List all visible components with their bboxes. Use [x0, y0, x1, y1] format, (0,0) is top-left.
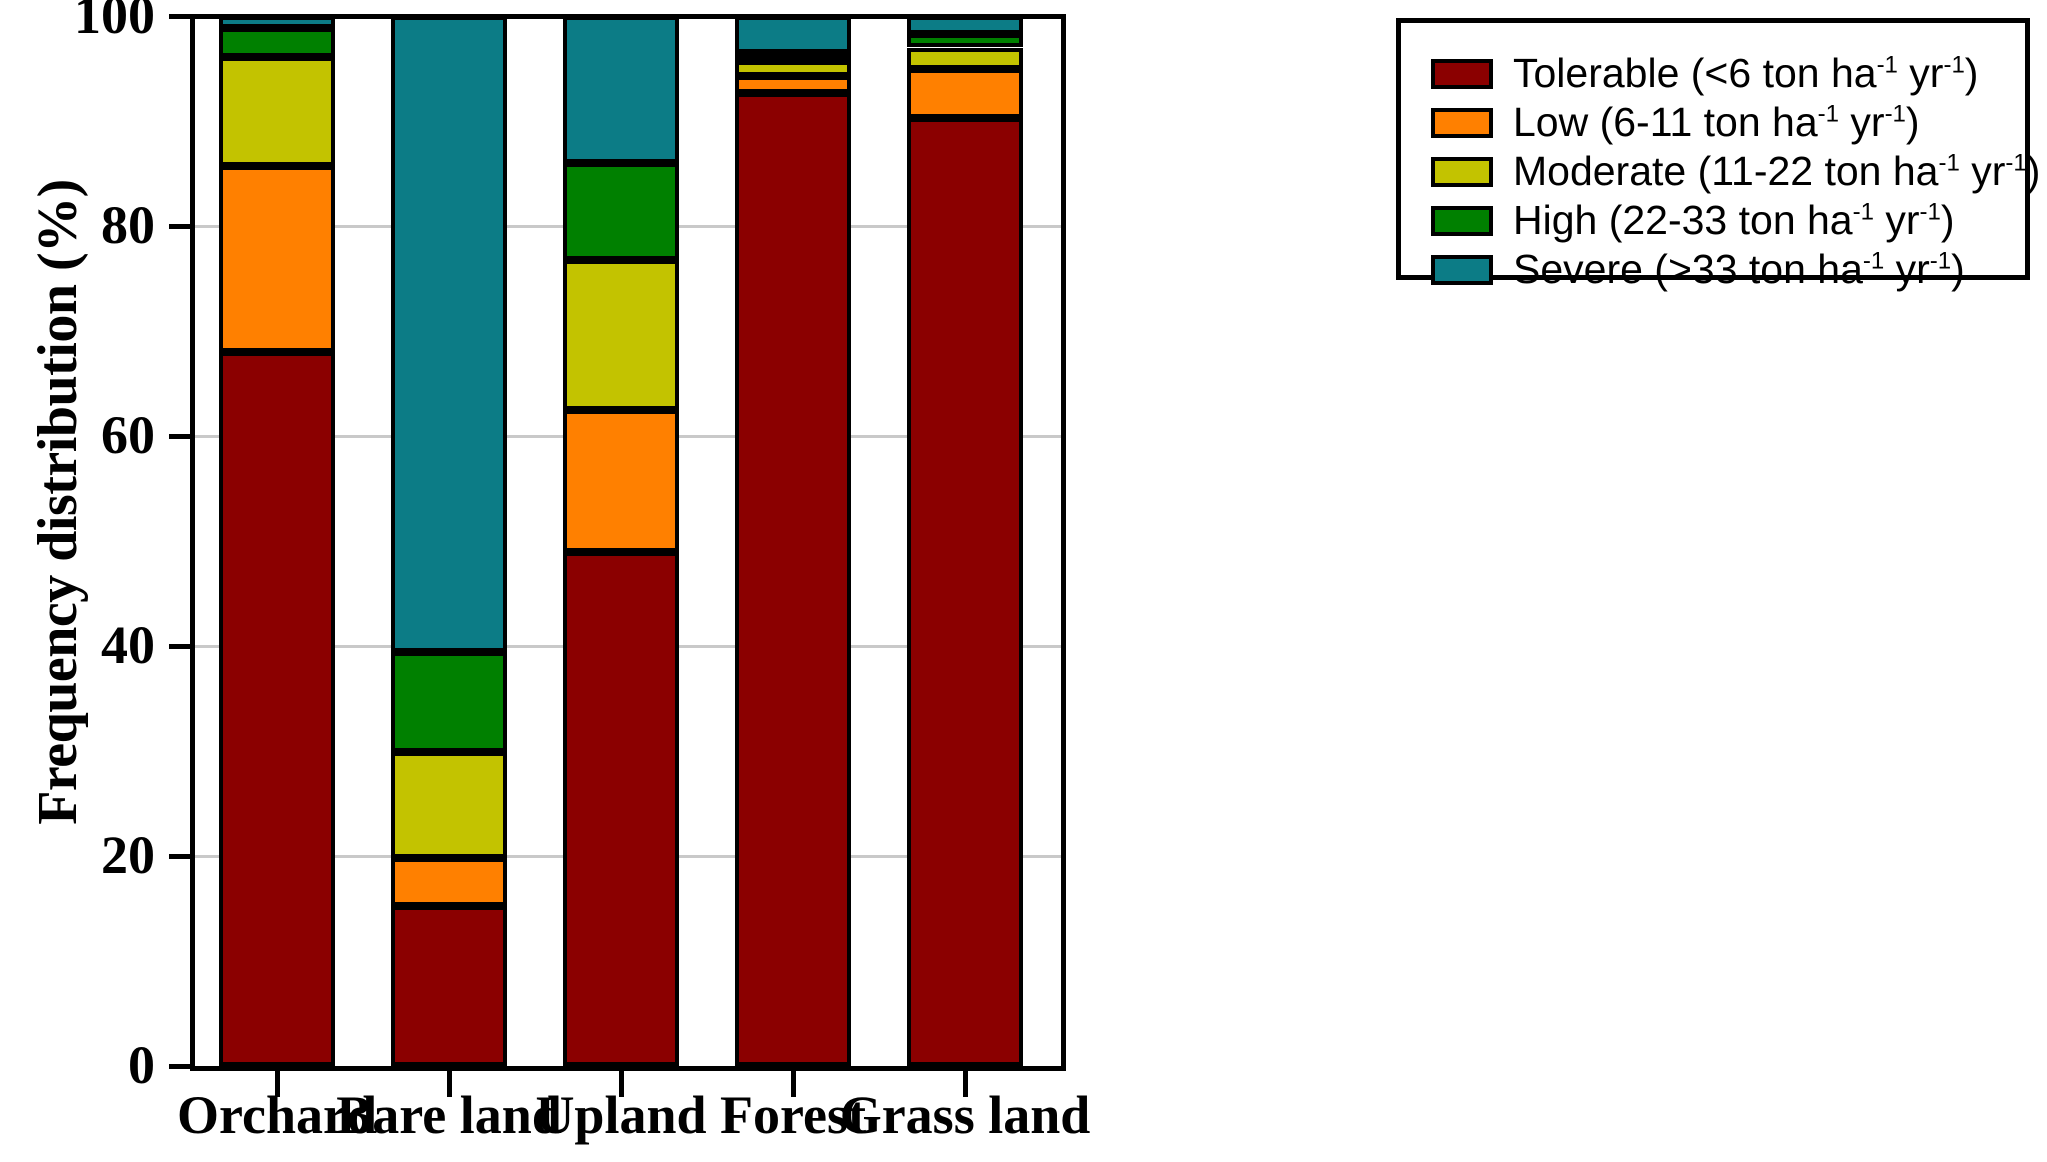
legend-label-moderate: Moderate (11-22 ton ha-1 yr-1) — [1513, 151, 2040, 192]
bar-segment[interactable] — [391, 752, 507, 858]
bar-segment[interactable] — [907, 16, 1023, 34]
legend-item[interactable]: Tolerable (<6 ton ha-1 yr-1) — [1431, 49, 2025, 98]
y-tick-label-0: 0 — [15, 1038, 155, 1092]
bar-segment[interactable] — [219, 16, 335, 28]
legend-swatch-low — [1431, 108, 1493, 138]
x-tick-label-grass-land: Grass land — [815, 1085, 1115, 1145]
axis-baseline — [190, 1066, 1066, 1071]
bar-segment[interactable] — [735, 76, 851, 93]
bar-segment[interactable] — [391, 906, 507, 1066]
bar-segment[interactable] — [907, 48, 1023, 69]
y-tick-label-100: 100 — [15, 0, 155, 42]
bar-segment[interactable] — [563, 552, 679, 1067]
bar-segment[interactable] — [391, 652, 507, 752]
legend-swatch-moderate — [1431, 157, 1493, 187]
bar-segment[interactable] — [907, 69, 1023, 118]
y-tick-label-80: 80 — [15, 198, 155, 252]
legend-item[interactable]: High (22-33 ton ha-1 yr-1) — [1431, 196, 2025, 245]
legend-item[interactable]: Low (6-11 ton ha-1 yr-1) — [1431, 98, 2025, 147]
legend-swatch-tolerable — [1431, 59, 1493, 89]
bar-segment[interactable] — [563, 163, 679, 260]
legend-label-low: Low (6-11 ton ha-1 yr-1) — [1513, 102, 1920, 143]
y-tick-label-60: 60 — [15, 408, 155, 462]
bar-segment[interactable] — [907, 34, 1023, 48]
bar-segment[interactable] — [735, 53, 851, 61]
legend-label-high: High (22-33 ton ha-1 yr-1) — [1513, 200, 1955, 241]
y-tick-label-20: 20 — [15, 828, 155, 882]
bar-stack[interactable] — [219, 0, 335, 1066]
bar-stack[interactable] — [391, 0, 507, 1066]
y-tick-20 — [169, 854, 191, 859]
bar-stack[interactable] — [735, 0, 851, 1066]
bar-segment[interactable] — [563, 260, 679, 410]
bar-segment[interactable] — [219, 57, 335, 166]
bar-segment[interactable] — [563, 16, 679, 163]
y-tick-100 — [169, 14, 191, 19]
bar-segment[interactable] — [219, 352, 335, 1066]
bar-segment[interactable] — [219, 28, 335, 57]
axis-right-rule — [1061, 16, 1066, 1066]
legend-item[interactable]: Moderate (11-22 ton ha-1 yr-1) — [1431, 147, 2025, 196]
legend: Tolerable (<6 ton ha-1 yr-1) Low (6-11 t… — [1396, 18, 2030, 280]
bar-segment[interactable] — [735, 61, 851, 76]
bar-stack[interactable] — [907, 0, 1023, 1066]
y-tick-40 — [169, 644, 191, 649]
bar-segment[interactable] — [391, 858, 507, 906]
bar-stack[interactable] — [563, 0, 679, 1066]
y-tick-60 — [169, 434, 191, 439]
bar-segment[interactable] — [735, 93, 851, 1066]
bar-segment[interactable] — [735, 16, 851, 53]
y-tick-label-40: 40 — [15, 618, 155, 672]
legend-swatch-high — [1431, 206, 1493, 236]
legend-item[interactable]: Severe (>33 ton ha-1 yr-1) — [1431, 245, 2025, 294]
stacked-bar-chart-figure: Frequency distribution (%) 020406080100 … — [0, 0, 2047, 1162]
legend-label-severe: Severe (>33 ton ha-1 yr-1) — [1513, 249, 1965, 290]
bar-segment[interactable] — [391, 16, 507, 652]
bar-segment[interactable] — [219, 166, 335, 352]
legend-label-tolerable: Tolerable (<6 ton ha-1 yr-1) — [1513, 53, 1978, 94]
legend-swatch-severe — [1431, 255, 1493, 285]
y-tick-0 — [169, 1064, 191, 1069]
y-axis-title: Frequency distribution (%) — [26, 52, 90, 952]
bar-segment[interactable] — [563, 410, 679, 552]
bar-segment[interactable] — [907, 118, 1023, 1066]
y-tick-80 — [169, 224, 191, 229]
